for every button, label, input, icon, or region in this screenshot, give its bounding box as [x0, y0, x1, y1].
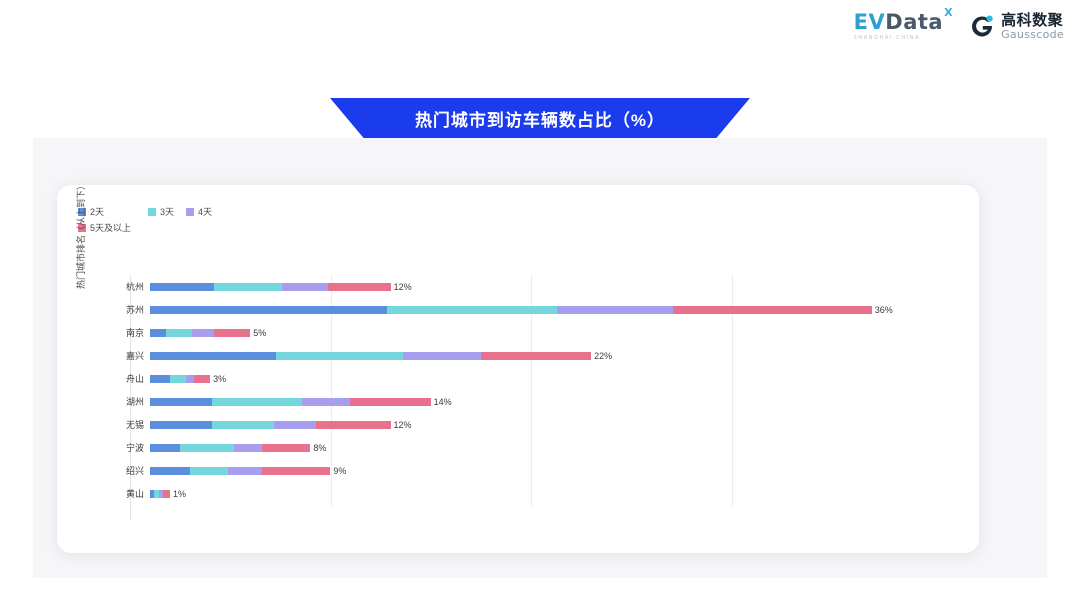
category-label-绍兴: 绍兴: [104, 464, 150, 477]
bar-value-label: 9%: [333, 466, 346, 476]
bar-segment-2天[interactable]: [150, 421, 212, 429]
category-label-杭州: 杭州: [104, 280, 150, 293]
bar-segment-5天及以上[interactable]: [316, 421, 390, 429]
bar-segment-4天[interactable]: [186, 375, 194, 383]
bar-segment-4天[interactable]: [192, 329, 214, 337]
bar-segment-5天及以上[interactable]: [350, 398, 430, 406]
category-label-湖州: 湖州: [104, 395, 150, 408]
legend-label-2d: 2天: [90, 205, 104, 219]
gausscode-text: 高科数聚 Gausscode: [1001, 13, 1064, 40]
bar-segment-2天[interactable]: [150, 283, 214, 291]
gausscode-en-label: Gausscode: [1001, 29, 1064, 41]
legend-item-3d[interactable]: 3天: [148, 205, 174, 219]
bar-segment-4天[interactable]: [557, 306, 673, 314]
chart-row: 嘉兴22%: [104, 344, 958, 367]
stacked-bar[interactable]: [150, 306, 872, 314]
category-label-无锡: 无锡: [104, 418, 150, 431]
stacked-bar[interactable]: [150, 398, 431, 406]
bar-segment-2天[interactable]: [150, 306, 387, 314]
bar-segment-3天[interactable]: [387, 306, 557, 314]
legend-swatch-4d: [186, 208, 194, 216]
bar-segment-3天[interactable]: [180, 444, 234, 452]
bar-segment-3天[interactable]: [276, 352, 402, 360]
bar-segment-3天[interactable]: [190, 467, 228, 475]
chart-rows: 杭州12%苏州36%南京5%嘉兴22%舟山3%湖州14%无锡12%宁波8%绍兴9…: [104, 275, 958, 507]
bar-with-label: 22%: [150, 351, 612, 361]
bar-area: 5%: [150, 321, 958, 344]
bar-with-label: 9%: [150, 466, 346, 476]
bar-segment-5天及以上[interactable]: [328, 283, 390, 291]
bar-segment-2天[interactable]: [150, 329, 166, 337]
bar-area: 36%: [150, 298, 958, 321]
legend-label-5d: 5天及以上: [90, 221, 131, 235]
title-banner: 热门城市到访车辆数占比（%）: [330, 98, 750, 138]
bar-with-label: 5%: [150, 328, 266, 338]
chart-legend: 2天 3天 4天 5天及以上: [78, 205, 378, 235]
legend-swatch-3d: [148, 208, 156, 216]
chart-row: 黄山1%: [104, 482, 958, 505]
stacked-bar[interactable]: [150, 283, 391, 291]
legend-item-5d[interactable]: 5天及以上: [78, 221, 368, 235]
bar-segment-4天[interactable]: [274, 421, 316, 429]
bar-area: 14%: [150, 390, 958, 413]
bar-area: 8%: [150, 436, 958, 459]
bar-value-label: 22%: [594, 351, 612, 361]
bar-with-label: 36%: [150, 305, 893, 315]
category-label-宁波: 宁波: [104, 441, 150, 454]
chart-row: 绍兴9%: [104, 459, 958, 482]
gausscode-logo: 高科数聚 Gausscode: [970, 13, 1064, 40]
bar-segment-5天及以上[interactable]: [214, 329, 250, 337]
bar-area: 1%: [150, 482, 958, 505]
slide-page: EVDataX SHANGHAI CHINA 高科数聚 Gausscode 热门…: [0, 0, 1080, 608]
stacked-bar[interactable]: [150, 467, 330, 475]
bar-segment-4天[interactable]: [403, 352, 481, 360]
chart-row: 舟山3%: [104, 367, 958, 390]
stacked-bar-chart: 热门城市排名（从上到下） 杭州12%苏州36%南京5%嘉兴22%舟山3%湖州14…: [78, 275, 958, 520]
category-label-苏州: 苏州: [104, 303, 150, 316]
bar-value-label: 36%: [875, 305, 893, 315]
category-label-嘉兴: 嘉兴: [104, 349, 150, 362]
evdata-ev-text: EV: [854, 12, 886, 33]
chart-row: 南京5%: [104, 321, 958, 344]
stacked-bar[interactable]: [150, 421, 391, 429]
legend-label-3d: 3天: [160, 205, 174, 219]
chart-row: 无锡12%: [104, 413, 958, 436]
bar-segment-4天[interactable]: [302, 398, 350, 406]
bar-segment-3天[interactable]: [170, 375, 186, 383]
evdata-x-superscript: X: [944, 7, 953, 18]
bar-segment-3天[interactable]: [166, 329, 192, 337]
bar-with-label: 12%: [150, 420, 412, 430]
bar-value-label: 3%: [213, 374, 226, 384]
evdata-wordmark: EVDataX: [854, 12, 952, 33]
bar-area: 22%: [150, 344, 958, 367]
gausscode-mark-icon: [970, 14, 994, 38]
bar-value-label: 12%: [394, 420, 412, 430]
bar-value-label: 12%: [394, 282, 412, 292]
bar-segment-2天[interactable]: [150, 375, 170, 383]
category-label-南京: 南京: [104, 326, 150, 339]
y-axis-title: 热门城市排名（从上到下）: [74, 155, 87, 315]
bar-segment-3天[interactable]: [212, 421, 274, 429]
bar-with-label: 14%: [150, 397, 452, 407]
bar-segment-3天[interactable]: [214, 283, 282, 291]
stacked-bar[interactable]: [150, 329, 250, 337]
stacked-bar[interactable]: [150, 444, 310, 452]
chart-row: 宁波8%: [104, 436, 958, 459]
bar-segment-5天及以上[interactable]: [481, 352, 591, 360]
chart-row: 杭州12%: [104, 275, 958, 298]
bar-segment-5天及以上[interactable]: [163, 490, 170, 498]
bar-area: 12%: [150, 413, 958, 436]
evdata-logo: EVDataX SHANGHAI CHINA: [854, 12, 952, 41]
legend-item-4d[interactable]: 4天: [186, 205, 212, 219]
bar-with-label: 3%: [150, 374, 226, 384]
category-label-黄山: 黄山: [104, 487, 150, 500]
chart-row: 苏州36%: [104, 298, 958, 321]
evdata-subtitle: SHANGHAI CHINA: [854, 35, 921, 41]
bar-value-label: 8%: [313, 443, 326, 453]
bar-value-label: 5%: [253, 328, 266, 338]
category-label-舟山: 舟山: [104, 372, 150, 385]
bar-area: 9%: [150, 459, 958, 482]
bar-area: 12%: [150, 275, 958, 298]
bar-area: 3%: [150, 367, 958, 390]
bar-segment-2天[interactable]: [150, 467, 190, 475]
bar-with-label: 1%: [150, 489, 186, 499]
logo-bar: EVDataX SHANGHAI CHINA 高科数聚 Gausscode: [854, 12, 1064, 41]
bar-segment-5天及以上[interactable]: [673, 306, 871, 314]
stacked-bar[interactable]: [150, 490, 170, 498]
bar-segment-2天[interactable]: [150, 444, 180, 452]
bar-segment-4天[interactable]: [228, 467, 262, 475]
bar-segment-5天及以上[interactable]: [194, 375, 210, 383]
bar-value-label: 14%: [434, 397, 452, 407]
evdata-data-text: Data: [885, 12, 943, 33]
bar-segment-4天[interactable]: [234, 444, 262, 452]
bar-segment-2天[interactable]: [150, 398, 212, 406]
stacked-bar[interactable]: [150, 375, 210, 383]
bar-segment-3天[interactable]: [212, 398, 302, 406]
legend-label-4d: 4天: [198, 205, 212, 219]
title-banner-wrap: 热门城市到访车辆数占比（%）: [0, 98, 1080, 138]
bar-segment-5天及以上[interactable]: [262, 467, 330, 475]
gausscode-cn-label: 高科数聚: [1001, 13, 1064, 29]
stacked-bar[interactable]: [150, 352, 591, 360]
bar-segment-4天[interactable]: [282, 283, 328, 291]
bar-with-label: 12%: [150, 282, 412, 292]
bar-segment-5天及以上[interactable]: [262, 444, 310, 452]
bar-segment-2天[interactable]: [150, 352, 276, 360]
bar-with-label: 8%: [150, 443, 326, 453]
bar-value-label: 1%: [173, 489, 186, 499]
chart-row: 湖州14%: [104, 390, 958, 413]
